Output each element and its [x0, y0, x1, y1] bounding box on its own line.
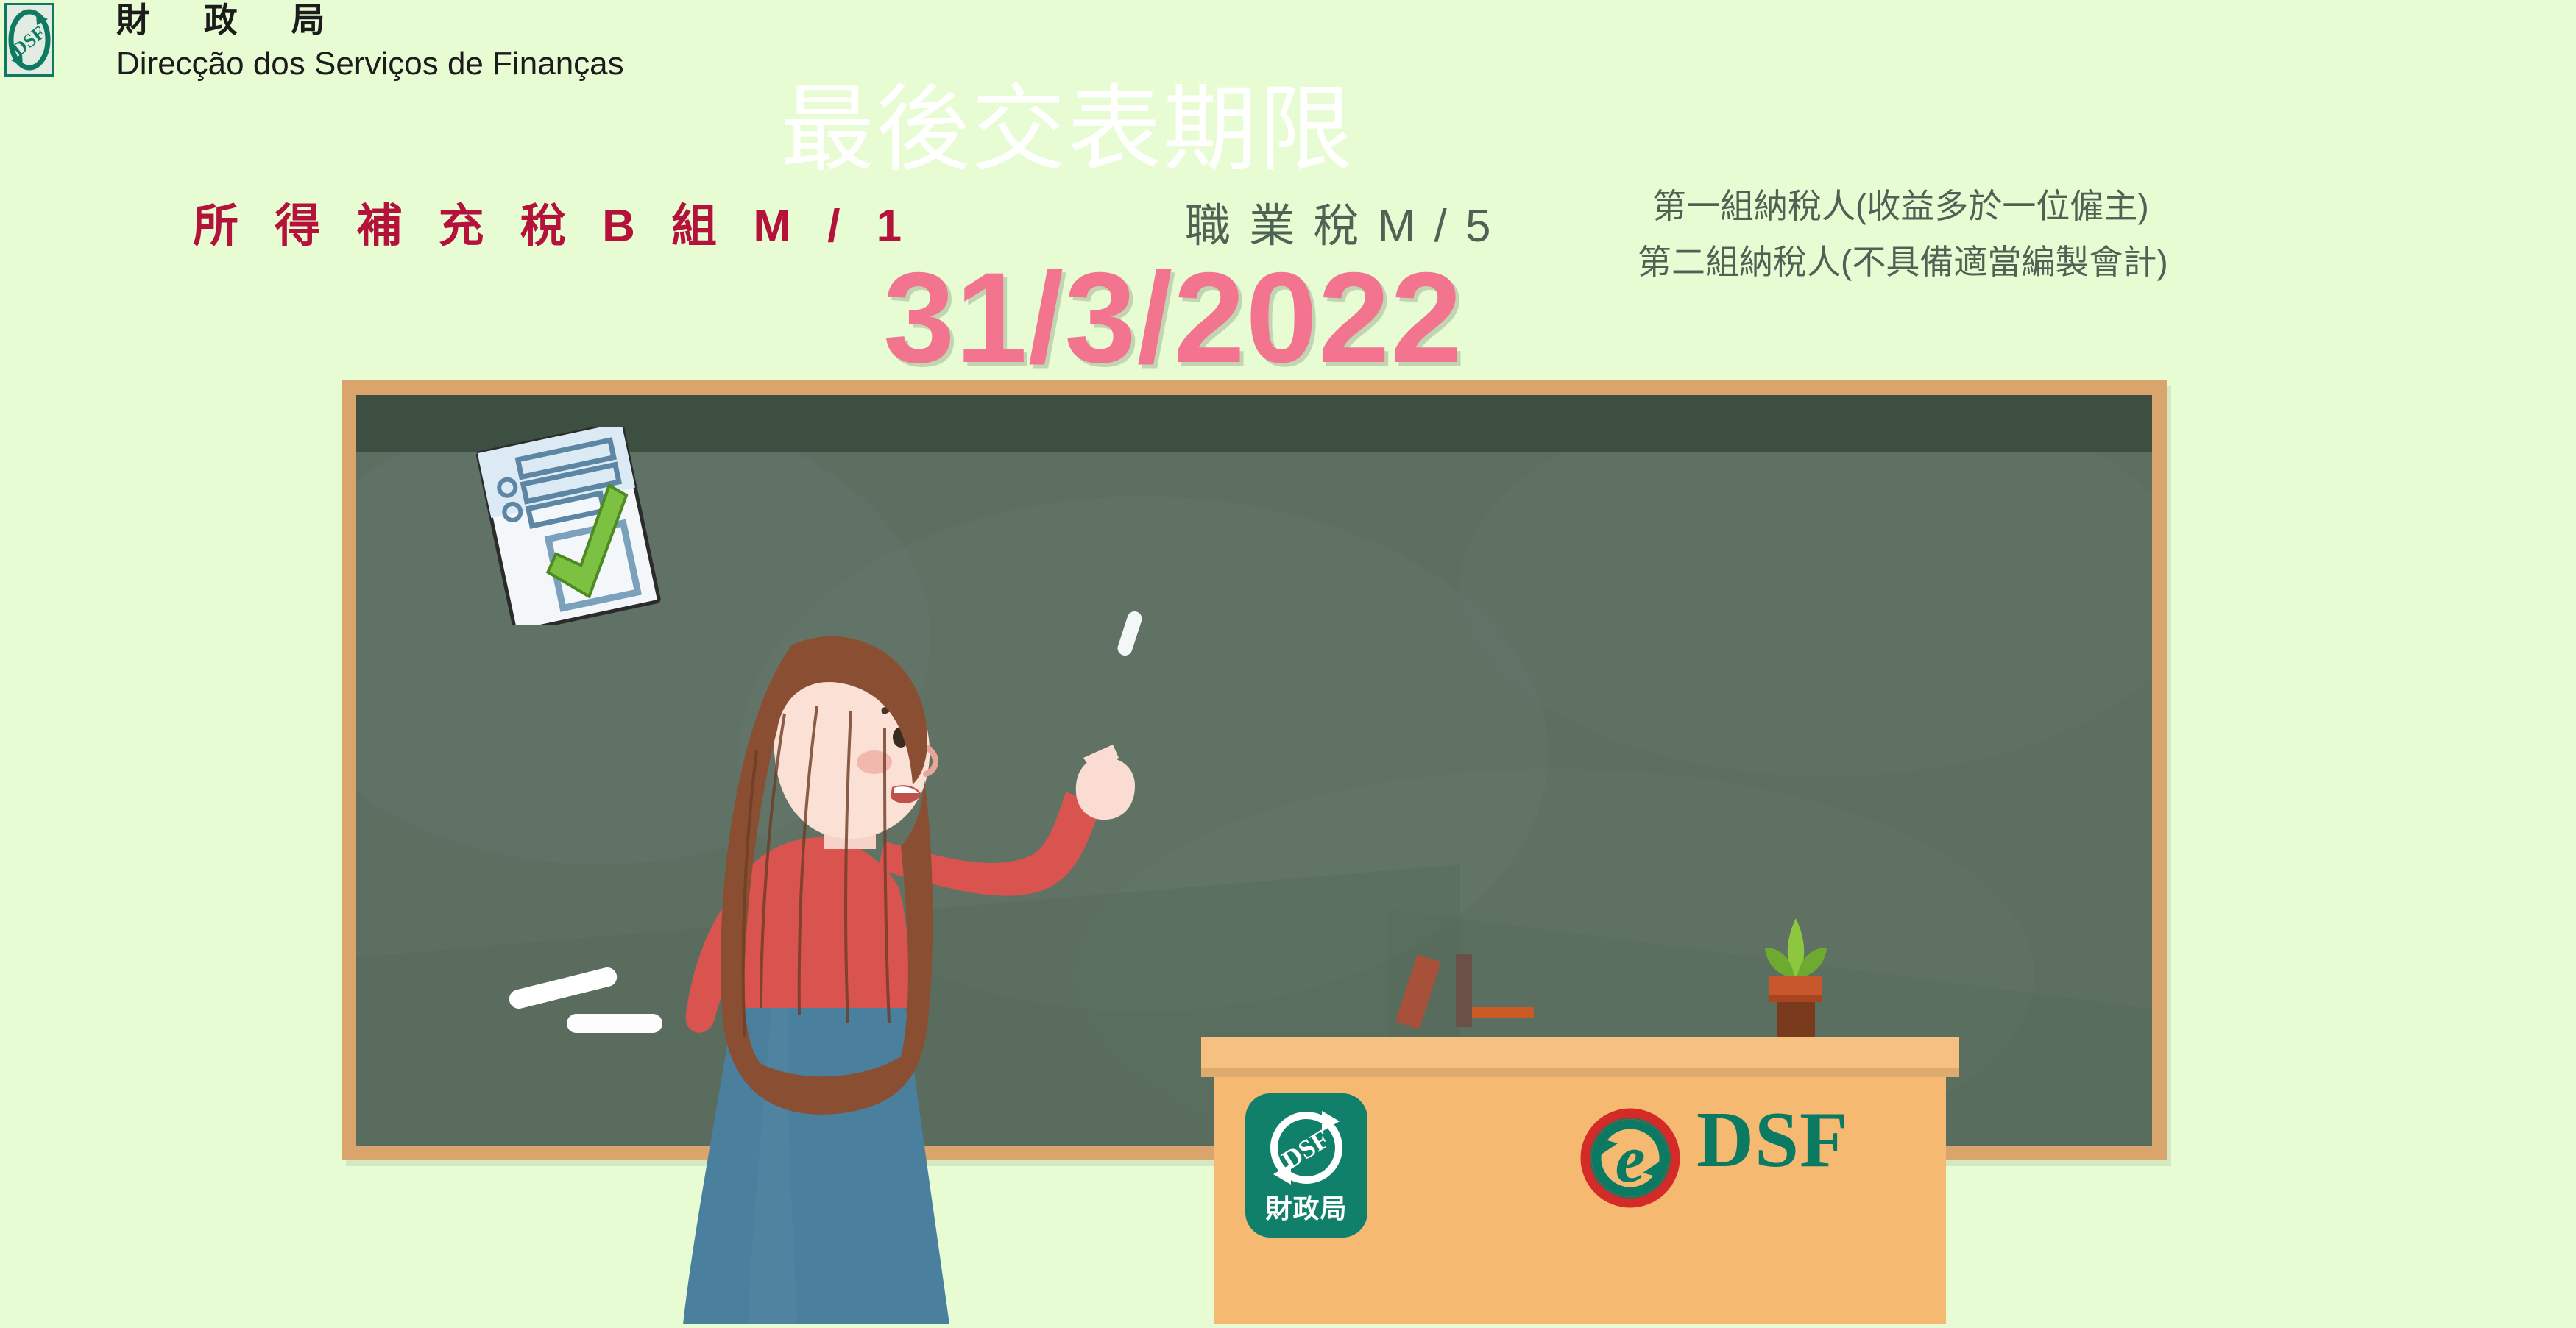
dsf-app-icon[interactable]: DSF 財政局 — [1245, 1093, 1367, 1238]
taxpayer-group-2-note: 第二組納稅人(不具備適當編製會計) — [1638, 235, 2168, 284]
svg-text:e: e — [1616, 1121, 1646, 1196]
books-icon — [1472, 1007, 1534, 1018]
edsf-wordmark: DSF — [1696, 1101, 1849, 1180]
woman-writing-on-blackboard-illustration — [604, 537, 1192, 1324]
department-name-pt: Direcção dos Serviços de Finanças — [116, 46, 624, 82]
potted-plant-icon — [1752, 912, 1840, 1045]
board-heading: 最後交表期限 — [780, 53, 1354, 189]
books-icon — [1456, 954, 1472, 1027]
dsf-circular-arrow-logo-icon: DSF — [4, 3, 54, 77]
department-name-cn: 財 政 局 — [116, 2, 347, 38]
app-icon-label: 財政局 — [1245, 1187, 1367, 1226]
edsf-swoosh-icon: e — [1568, 1099, 1693, 1217]
complementary-tax-title: 所 得 補 充 稅 B 組 M / 1 — [193, 188, 913, 255]
taxpayer-group-1-note: 第一組納稅人(收益多於一位僱主) — [1652, 180, 2149, 228]
edsf-logo[interactable]: e DSF — [1568, 1099, 1892, 1217]
desk-lip — [1201, 1068, 1959, 1077]
desk-top — [1201, 1037, 1959, 1068]
deadline-date: 31/3/2022 — [883, 244, 1463, 392]
